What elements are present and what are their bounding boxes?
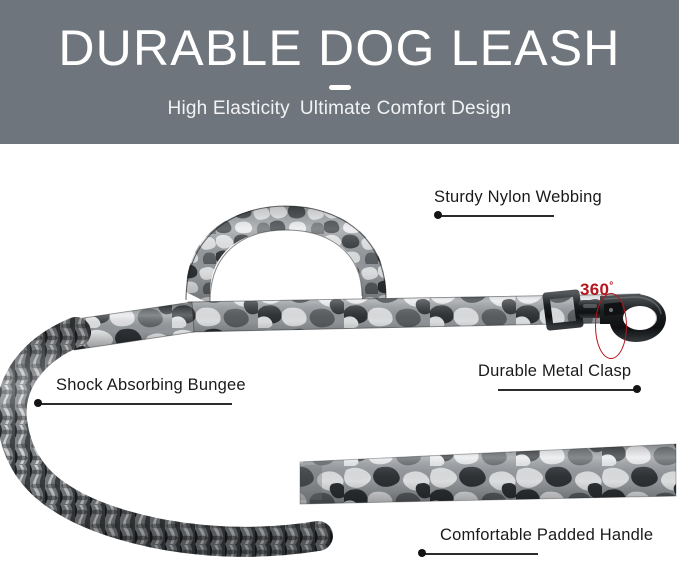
badge-360-value: 360 bbox=[580, 280, 609, 299]
leader-line-clasp bbox=[478, 385, 643, 395]
lower-webbing-strap bbox=[296, 438, 679, 508]
callout-durable-metal-clasp: Durable Metal Clasp bbox=[478, 362, 643, 395]
callout-label-webbing: Sturdy Nylon Webbing bbox=[434, 188, 602, 206]
swivel-360-badge: 360° bbox=[580, 281, 614, 300]
leader-stroke bbox=[438, 215, 554, 216]
shock-absorbing-bungee bbox=[12, 332, 318, 542]
title-divider bbox=[329, 85, 351, 90]
leader-dot bbox=[633, 385, 641, 393]
page-subtitle: High ElasticityUltimate Comfort Design bbox=[168, 98, 512, 120]
callout-comfortable-padded-handle: Comfortable Padded Handle bbox=[440, 526, 653, 559]
leader-dot bbox=[434, 211, 442, 219]
callout-sturdy-nylon-webbing: Sturdy Nylon Webbing bbox=[434, 188, 602, 221]
callout-label-handle: Comfortable Padded Handle bbox=[440, 526, 653, 544]
leader-line-bungee bbox=[56, 399, 256, 409]
leader-stroke bbox=[422, 553, 538, 554]
leader-stroke bbox=[498, 389, 635, 390]
header-banner: DURABLE DOG LEASH High ElasticityUltimat… bbox=[0, 0, 679, 144]
infographic-page: DURABLE DOG LEASH High ElasticityUltimat… bbox=[0, 0, 679, 562]
subtitle-part-left: High Elasticity bbox=[168, 98, 290, 119]
subtitle-part-right: Ultimate Comfort Design bbox=[300, 98, 512, 119]
leader-line-webbing bbox=[434, 211, 554, 221]
callout-label-bungee: Shock Absorbing Bungee bbox=[56, 376, 256, 394]
degree-icon: ° bbox=[609, 281, 613, 292]
callout-shock-absorbing-bungee: Shock Absorbing Bungee bbox=[56, 376, 256, 409]
callout-label-clasp: Durable Metal Clasp bbox=[478, 362, 643, 380]
page-title: DURABLE DOG LEASH bbox=[58, 22, 620, 75]
leader-line-handle bbox=[440, 549, 560, 559]
leader-stroke bbox=[38, 403, 232, 404]
